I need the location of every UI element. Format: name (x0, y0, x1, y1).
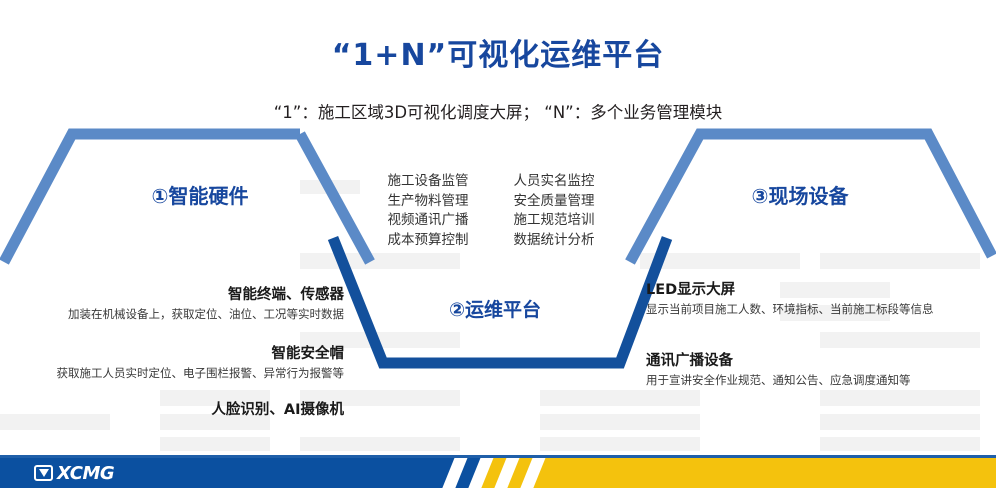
left-item-desc: 加装在机械设备上，获取定位、油位、工况等实时数据 (4, 306, 344, 323)
module-list: 施工设备监管 人员实名监控 生产物料管理 安全质量管理 视频通讯广播 施工规范培… (372, 172, 610, 250)
page-title: “1+N”可视化运维平台 (0, 30, 996, 74)
left-item-1: 智能终端、传感器 加装在机械设备上，获取定位、油位、工况等实时数据 (4, 285, 344, 323)
xcmg-logo: XCMG (34, 463, 114, 483)
left-item-title: 人脸识别、AI摄像机 (4, 400, 344, 421)
module-item: 成本预算控制 (372, 231, 484, 251)
left-item-2: 智能安全帽 获取施工人员实时定位、电子围栏报警、异常行为报警等 (4, 344, 344, 382)
section-heading-left: ①智能硬件 (60, 180, 340, 209)
module-item: 视频通讯广播 (372, 211, 484, 231)
left-item-title: 智能终端、传感器 (4, 285, 344, 306)
brand-wordmark: XCMG (57, 463, 114, 484)
section-heading-center: ②运维平台 (410, 295, 580, 322)
footer-bar: XCMG (0, 458, 996, 488)
module-item: 施工规范培训 (498, 211, 610, 231)
page-subtitle: “1”：施工区域3D可视化调度大屏； “N”：多个业务管理模块 (170, 98, 826, 127)
triangle-badge-icon (34, 465, 53, 481)
right-item-desc: 显示当前项目施工人数、环境指标、当前施工标段等信息 (646, 301, 976, 318)
left-item-title: 智能安全帽 (4, 344, 344, 365)
module-item: 数据统计分析 (498, 231, 610, 251)
right-item-2: 通讯广播设备 用于宣讲安全作业规范、通知公告、应急调度通知等 (646, 351, 976, 389)
right-item-1: LED显示大屏 显示当前项目施工人数、环境指标、当前施工标段等信息 (646, 280, 976, 318)
right-item-title: LED显示大屏 (646, 280, 976, 301)
section-heading-right: ③现场设备 (660, 180, 940, 209)
slide-canvas: “1+N”可视化运维平台 “1”：施工区域3D可视化调度大屏； “N”：多个业务… (0, 0, 996, 488)
left-item-desc: 获取施工人员实时定位、电子围栏报警、异常行为报警等 (4, 365, 344, 382)
module-item: 生产物料管理 (372, 192, 484, 212)
right-item-title: 通讯广播设备 (646, 351, 976, 372)
left-item-3: 人脸识别、AI摄像机 (4, 400, 344, 421)
module-item: 人员实名监控 (498, 172, 610, 192)
module-item: 安全质量管理 (498, 192, 610, 212)
module-item: 施工设备监管 (372, 172, 484, 192)
right-item-desc: 用于宣讲安全作业规范、通知公告、应急调度通知等 (646, 372, 976, 389)
